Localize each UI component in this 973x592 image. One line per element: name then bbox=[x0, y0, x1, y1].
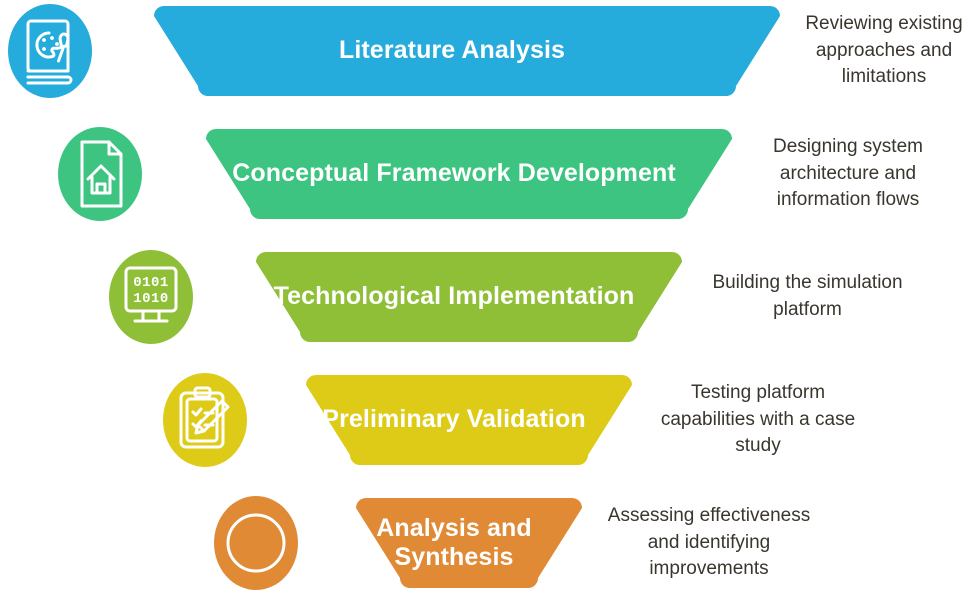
funnel-stage-1: Literature Analysis Reviewing existing a… bbox=[0, 4, 973, 98]
clipboard-pencil-icon bbox=[163, 373, 247, 467]
stage-2-icon-badge bbox=[58, 127, 142, 221]
stage-1-description: Reviewing existing approaches and limita… bbox=[795, 11, 973, 92]
stage-5-description: Assessing effectiveness and identifying … bbox=[598, 503, 820, 584]
svg-text:1010: 1010 bbox=[133, 291, 169, 307]
stage-3-description: Building the simulation platform bbox=[700, 270, 915, 324]
document-house-icon bbox=[58, 127, 142, 221]
stage-5-icon-badge bbox=[214, 496, 298, 590]
stage-4-description-wrap: Testing platform capabilities with a cas… bbox=[650, 373, 866, 467]
funnel-stage-4: Preliminary Validation Testing platform … bbox=[0, 373, 973, 467]
stage-1-icon-badge bbox=[8, 4, 92, 98]
stage-1-description-wrap: Reviewing existing approaches and limita… bbox=[795, 4, 973, 98]
funnel-stage-5: Analysis and Synthesis Assessing effecti… bbox=[0, 496, 973, 590]
svg-text:0101: 0101 bbox=[133, 275, 169, 291]
funnel-diagram: Literature Analysis Reviewing existing a… bbox=[0, 0, 973, 592]
funnel-stage-3: 0101 1010 Technological Implementation B… bbox=[0, 250, 973, 344]
binary-monitor-icon: 0101 1010 bbox=[109, 250, 193, 344]
circle-ring-icon bbox=[214, 496, 298, 590]
stage-4-icon-badge bbox=[163, 373, 247, 467]
stage-5-description-wrap: Assessing effectiveness and identifying … bbox=[598, 496, 820, 590]
stage-1-band: Literature Analysis bbox=[122, 4, 782, 98]
stage-3-description-wrap: Building the simulation platform bbox=[700, 250, 915, 344]
stage-4-description: Testing platform capabilities with a cas… bbox=[650, 380, 866, 461]
stage-5-band: Analysis and Synthesis bbox=[324, 496, 584, 590]
funnel-stage-2: Conceptual Framework Development Designi… bbox=[0, 127, 973, 221]
stage-3-icon-badge: 0101 1010 bbox=[109, 250, 193, 344]
stage-2-description: Designing system architecture and inform… bbox=[748, 134, 948, 215]
stage-4-band: Preliminary Validation bbox=[274, 373, 634, 467]
stage-3-band: Technological Implementation bbox=[224, 250, 684, 344]
stage-2-band: Conceptual Framework Development bbox=[174, 127, 734, 221]
stage-2-description-wrap: Designing system architecture and inform… bbox=[748, 127, 948, 221]
book-palette-icon bbox=[8, 4, 92, 98]
